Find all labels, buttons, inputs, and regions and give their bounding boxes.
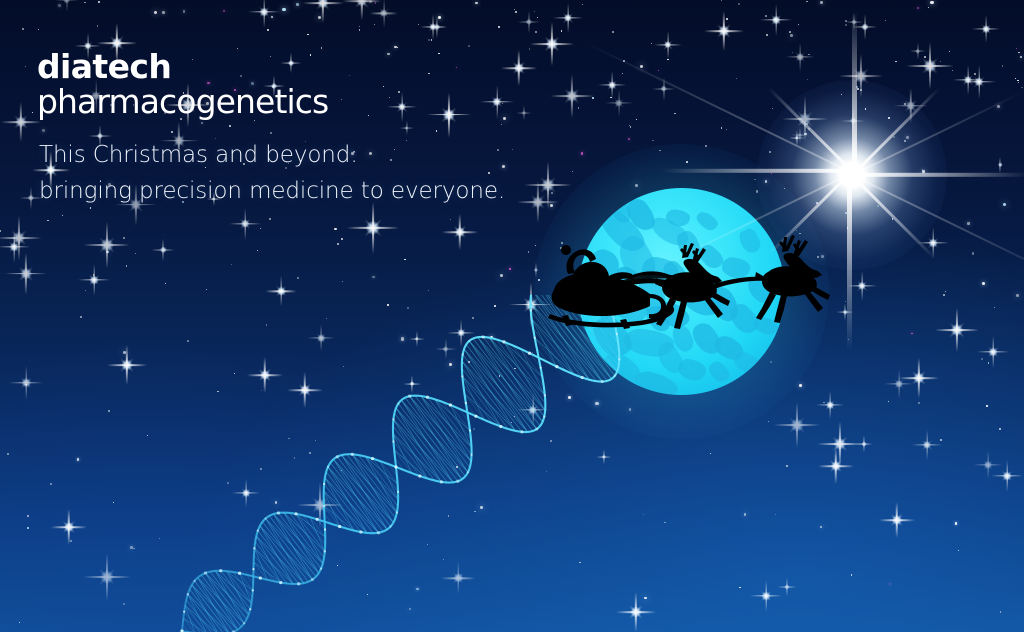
star [438, 16, 441, 19]
sparkle-ray [379, 8, 389, 18]
dna-node [482, 335, 485, 338]
dna-node [257, 529, 259, 531]
sparkle-ray [547, 161, 549, 208]
sparkle-ray [825, 400, 835, 410]
sparkle-ray [26, 365, 27, 399]
star [397, 47, 398, 48]
sparkle-ray [912, 371, 926, 385]
dna-node [187, 593, 189, 595]
dna-node [219, 569, 222, 572]
star [726, 18, 728, 20]
sparkle-ray [89, 135, 112, 136]
star [50, 483, 52, 485]
star [126, 265, 128, 267]
star [537, 17, 538, 18]
star [282, 8, 285, 11]
star [260, 228, 261, 229]
dna-node [581, 376, 584, 379]
star-ray [852, 173, 1024, 177]
sparkle-ray [818, 465, 854, 467]
dna-base-pair [393, 426, 435, 480]
dna-node [253, 547, 255, 549]
star [652, 140, 654, 142]
sparkle-ray [891, 514, 904, 527]
dna-mesh-line [504, 342, 545, 411]
sparkle-ray [441, 107, 457, 123]
star [551, 192, 554, 195]
sparkle-ray [355, 0, 369, 8]
sparkle-ray [953, 79, 983, 80]
star [986, 405, 987, 406]
star [503, 117, 506, 120]
sparkle-ray [20, 102, 22, 142]
star [582, 4, 583, 5]
sparkle-ray [372, 202, 374, 254]
sparkle-ray [817, 443, 862, 445]
sparkle-ray [491, 96, 503, 108]
sparkle-ray [717, 24, 731, 38]
star [1000, 611, 1001, 612]
sparkle-ray [789, 417, 805, 433]
dna-mesh-line [478, 337, 545, 410]
sparkle-ray [614, 98, 624, 108]
sparkle-ray [795, 52, 805, 62]
star [502, 103, 503, 104]
sparkle-ray [910, 51, 927, 52]
star [949, 51, 950, 52]
star [766, 34, 768, 36]
star [612, 31, 614, 33]
star [629, 125, 630, 126]
dna-node [392, 440, 394, 442]
dna-node [540, 367, 542, 369]
star [394, 46, 397, 49]
sparkle-ray [540, 176, 556, 192]
sparkle-ray [1, 121, 41, 123]
sparkle-ray [383, 0, 384, 28]
star [667, 59, 668, 60]
sparkle-ray [25, 252, 27, 294]
star [789, 31, 791, 33]
star [98, 1, 100, 3]
dna-node [294, 512, 297, 515]
sparkle-ray [973, 76, 985, 88]
sparkle-ray [992, 336, 993, 368]
star [610, 97, 612, 99]
star [736, 78, 737, 79]
sparkle-ray [770, 14, 781, 25]
sparkle-ray [832, 436, 848, 452]
star [943, 294, 945, 296]
dna-base-pair [410, 396, 468, 472]
star [270, 132, 272, 134]
sparkle-ray [760, 590, 771, 601]
sparkle-ray [480, 101, 514, 102]
star [123, 237, 125, 239]
sparkle-ray [99, 237, 115, 253]
sparkle-ray [99, 237, 115, 253]
star [38, 29, 40, 31]
sparkle-ray [972, 28, 1000, 29]
sparkle-ray [517, 202, 559, 204]
dna-mesh-line [256, 536, 280, 583]
star [359, 29, 361, 31]
star [895, 61, 897, 63]
sparkle-ray [963, 74, 973, 84]
sparkle-ray [323, 0, 325, 23]
star [807, 79, 808, 80]
sparkle-ray [97, 42, 137, 44]
star [739, 587, 741, 589]
sparkle-ray [544, 36, 559, 51]
dna-node [614, 375, 616, 377]
sparkle-ray [949, 322, 964, 337]
star [341, 99, 343, 101]
sparkle-ray [879, 519, 915, 521]
sparkle-ray [88, 274, 99, 285]
star [22, 28, 24, 30]
star [223, 10, 225, 12]
sparkle-ray [1006, 460, 1007, 492]
dna-node [543, 416, 545, 418]
dna-base-pair [342, 455, 394, 523]
star [97, 25, 99, 27]
sparkle-ray [864, 14, 865, 40]
star [798, 24, 800, 26]
sparkle-ray [19, 266, 34, 281]
sparkle-ray [907, 65, 954, 67]
star [27, 527, 29, 529]
sparkle-ray [1001, 470, 1012, 481]
star [945, 291, 946, 292]
star [710, 453, 712, 455]
sparkle-ray [8, 241, 19, 252]
tagline: This Christmas and beyond: bringing prec… [39, 138, 505, 209]
star [509, 268, 511, 270]
sparkle-ray [857, 281, 867, 291]
sparkle-ray [922, 439, 932, 449]
sparkle-ray [428, 22, 437, 31]
dna-node [456, 480, 459, 483]
sparkle-ray [654, 44, 682, 45]
star [237, 48, 238, 49]
sparkle-ray [448, 92, 450, 137]
star [820, 1, 823, 4]
brand-name-secondary: pharmacogenetics [37, 85, 328, 120]
sparkle-ray [258, 6, 269, 17]
star [428, 39, 430, 41]
dna-base-pair [328, 467, 378, 533]
star [341, 238, 343, 240]
star [428, 290, 429, 291]
sparkle-ray [454, 226, 467, 239]
sparkle-ray [258, 6, 269, 17]
sparkle-ray [973, 464, 1002, 465]
sparkle-ray [894, 378, 904, 388]
dna-mesh-line [410, 396, 471, 461]
star [744, 513, 746, 515]
dna-node [336, 455, 339, 458]
star [77, 458, 80, 461]
dna-node [418, 474, 421, 477]
star [982, 282, 985, 285]
star [958, 550, 959, 551]
dna-node [323, 505, 325, 507]
star [1016, 48, 1017, 49]
sparkle-ray [935, 329, 979, 331]
star [257, 250, 258, 251]
sparkle-ray [894, 378, 904, 388]
dna-node [469, 429, 471, 431]
sparkle-ray [832, 436, 848, 452]
star [1016, 294, 1019, 297]
sparkle-ray [1001, 470, 1012, 481]
sparkle-ray [778, 586, 797, 587]
star [529, 48, 531, 50]
sparkle-ray [864, 436, 865, 453]
sparkle-ray [263, 0, 264, 28]
star [475, 2, 478, 5]
dna-base-pair [221, 571, 250, 609]
star [581, 152, 583, 154]
sparkle-ray [918, 358, 920, 398]
star [988, 362, 990, 364]
sparkle-ray [861, 271, 862, 301]
sparkle-ray [516, 113, 531, 114]
star [738, 3, 740, 5]
dna-base-pair [469, 341, 537, 429]
star [374, 24, 375, 25]
star [501, 124, 502, 125]
sparkle-ray [31, 186, 32, 209]
dna-node [465, 402, 467, 404]
tagline-line-2: bringing precision medicine to everyone. [39, 174, 505, 210]
sparkle-ray [796, 402, 798, 448]
dna-node [474, 415, 477, 418]
star [808, 54, 809, 55]
star [967, 222, 969, 224]
sparkle-ray [991, 475, 1023, 476]
star [375, 2, 376, 3]
dna-node [264, 517, 266, 519]
star [389, 97, 391, 99]
sparkle-ray [399, 128, 413, 129]
sparkle-ray [240, 218, 251, 229]
sparkle-ray [787, 578, 788, 597]
dna-base-pair [192, 585, 229, 632]
sparkle-ray [397, 102, 407, 112]
star [85, 290, 86, 291]
star [622, 73, 623, 74]
star [321, 47, 322, 48]
star [765, 15, 767, 17]
sparkle-ray [949, 322, 964, 337]
star [436, 130, 438, 132]
sparkle-ray [912, 444, 942, 445]
dna-node [449, 403, 452, 406]
star [32, 112, 34, 114]
dna-node [535, 427, 538, 430]
brand-logo: diatech pharmacogenetics [37, 50, 328, 120]
dna-node [324, 550, 326, 552]
sparkle-ray [563, 13, 573, 23]
sparkle-ray [565, 89, 580, 104]
star [512, 149, 513, 150]
sparkle-ray [922, 58, 938, 74]
dna-node [426, 396, 429, 399]
moon-crater [694, 209, 720, 233]
sparkle-ray [765, 580, 766, 612]
star [940, 439, 942, 441]
star [972, 252, 974, 254]
sparkle-ray [18, 215, 20, 260]
star [888, 401, 889, 402]
sparkle-ray [962, 81, 996, 82]
sparkle-ray [523, 106, 524, 121]
sparkle-ray [442, 231, 478, 233]
sparkle-ray [830, 460, 843, 473]
star [84, 2, 86, 4]
star [640, 65, 642, 67]
sparkle-ray [605, 103, 633, 104]
sparkle-ray [598, 84, 626, 85]
star [721, 127, 723, 129]
star [644, 597, 647, 600]
sparkle-ray [611, 71, 612, 99]
star [450, 219, 452, 221]
dna-node [462, 353, 464, 355]
sparkle-ray [551, 95, 595, 97]
star [774, 18, 776, 20]
star [561, 30, 563, 32]
dna-node [499, 425, 502, 428]
star [1003, 203, 1006, 206]
dna-node [397, 402, 399, 404]
sparkle-ray [163, 239, 164, 262]
dna-node [534, 337, 536, 339]
star [772, 108, 773, 109]
dna-mesh-line [328, 467, 367, 533]
star [1018, 52, 1019, 53]
sparkle-ray [20, 377, 32, 389]
star [674, 113, 676, 115]
sparkle-ray [436, 16, 437, 38]
sparkle-ray [229, 223, 261, 224]
star [952, 70, 953, 71]
dna-node [390, 525, 392, 527]
sparkle-ray [927, 237, 938, 248]
sparkle-ray [19, 266, 34, 281]
sparkle-ray [426, 26, 448, 27]
star [845, 24, 847, 26]
dna-node [618, 358, 620, 360]
sparkle-ray [985, 15, 986, 43]
star [80, 316, 82, 318]
sparkle-ray [981, 24, 991, 34]
dna-node [252, 589, 254, 591]
sparkle-ray [614, 98, 624, 108]
sparkle-ray [553, 17, 583, 18]
sparkle-ray [629, 605, 643, 619]
star [25, 66, 26, 67]
dna-mesh-line [274, 514, 313, 580]
star [911, 333, 912, 334]
star [628, 138, 630, 140]
star [792, 52, 793, 53]
sparkle-ray [663, 40, 673, 50]
sparkle-ray [355, 0, 369, 8]
star [528, 251, 530, 253]
sparkle-ray [983, 460, 993, 470]
sparkle-ray [364, 219, 382, 237]
sparkle-ray [530, 43, 574, 45]
sparkle-ray [825, 400, 835, 410]
sparkle-ray [963, 74, 973, 84]
sparkle-ray [491, 96, 503, 108]
sparkle-ray [347, 227, 399, 229]
sparkle-ray [361, 0, 363, 21]
star [165, 283, 166, 284]
star [456, 67, 457, 68]
sparkle-ray [981, 24, 991, 34]
star [70, 540, 72, 542]
sparkle-ray [663, 40, 673, 50]
sparkle-ray [5, 273, 47, 275]
sparkle-ray [723, 11, 725, 51]
sparkle-ray [704, 30, 744, 32]
star [359, 26, 361, 28]
star [924, 56, 926, 58]
star [940, 61, 941, 62]
star [468, 45, 470, 47]
dna-node [408, 395, 411, 398]
sparkle-ray [428, 22, 437, 31]
star [1017, 80, 1019, 82]
sparkle-ray [618, 89, 619, 117]
star [918, 402, 920, 404]
star [337, 243, 339, 245]
sparkle-ray [926, 430, 927, 460]
sparkle-ray [896, 502, 898, 538]
star [106, 251, 108, 253]
moon-crater [676, 357, 708, 383]
star [775, 514, 777, 516]
sparkle-ray [537, 181, 539, 223]
dna-node [468, 340, 470, 342]
star [928, 7, 930, 9]
star [431, 39, 432, 40]
sparkle-ray [496, 85, 497, 119]
dna-node [440, 480, 443, 483]
sparkle-ray [750, 595, 782, 596]
star [334, 228, 336, 230]
star-ray [662, 168, 852, 172]
sparkle-ray [9, 382, 43, 383]
sparkle-ray [899, 377, 939, 379]
sparkle-ray [63, 521, 76, 534]
sparkle-ray [454, 226, 467, 239]
sparkle-ray [544, 36, 559, 51]
dna-base-pair [266, 518, 313, 579]
dna-mesh-line [401, 400, 453, 482]
star [267, 29, 269, 31]
sparkle-ray [987, 450, 988, 479]
sparkle-ray [835, 448, 837, 484]
star [318, 16, 321, 19]
sparkle-ray [956, 308, 958, 352]
star [643, 514, 644, 515]
sparkle-ray [14, 115, 28, 129]
